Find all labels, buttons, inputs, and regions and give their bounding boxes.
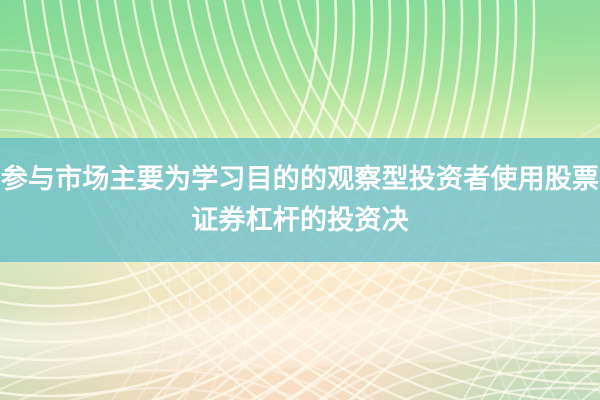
headline-text-block: 参与市场主要为学习目的的观察型投资者使用股票 证券杠杆的投资决	[0, 138, 600, 262]
promo-banner: 参与市场主要为学习目的的观察型投资者使用股票 证券杠杆的投资决	[0, 0, 600, 400]
headline-line-1: 参与市场主要为学习目的的观察型投资者使用股票	[1, 159, 599, 200]
headline-line-2: 证券杠杆的投资决	[191, 200, 409, 241]
